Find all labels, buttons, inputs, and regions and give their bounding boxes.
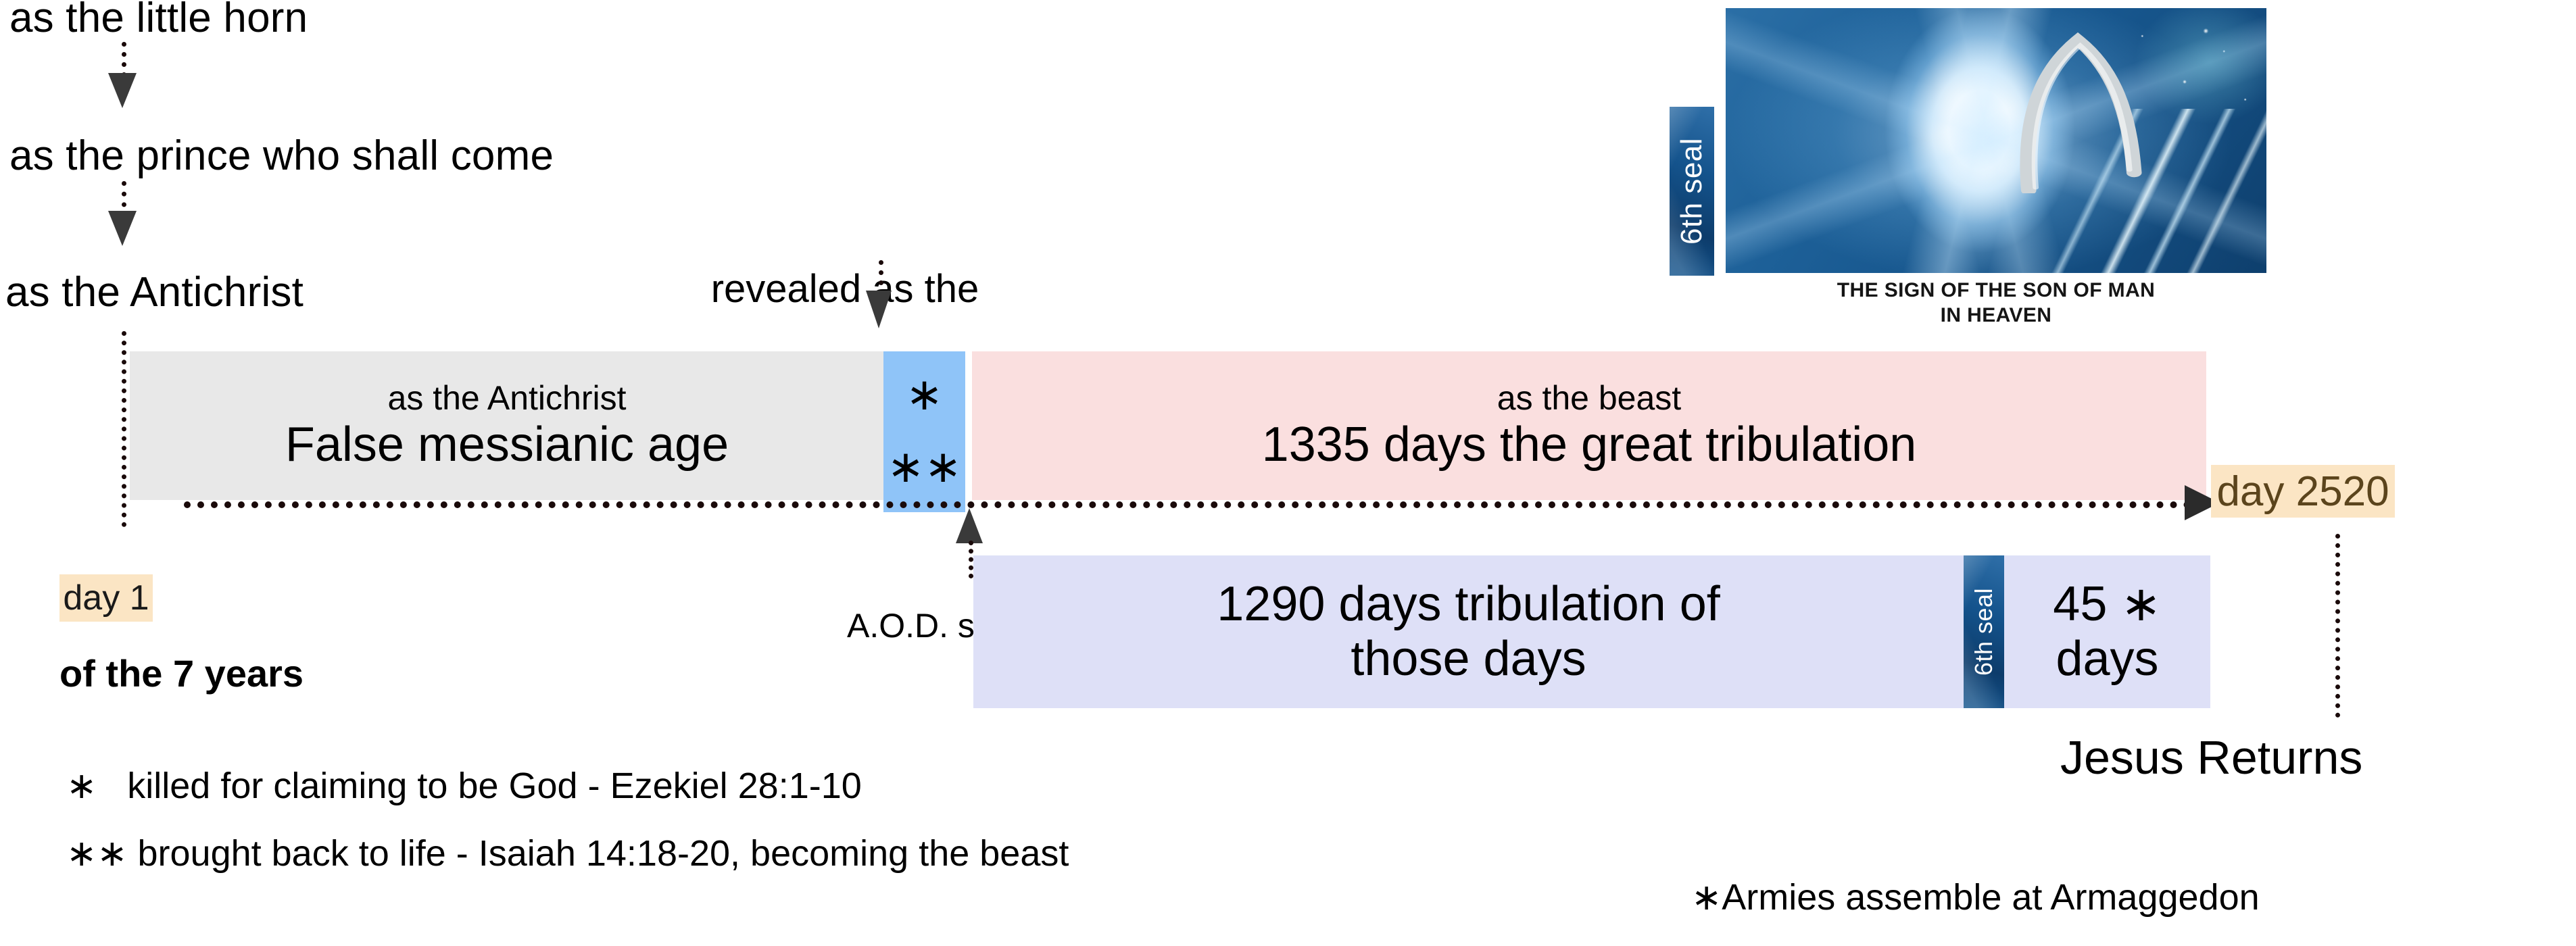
seal-tab-timeline-label: 6th seal xyxy=(1970,588,1998,676)
segment-1290-days-tribulation: 1290 days tribulation of those days xyxy=(973,555,1964,708)
image-arc-shape xyxy=(2012,29,2153,193)
chain-label-antichrist: as the Antichrist xyxy=(5,270,303,314)
image-caption-line-1: THE SIGN OF THE SON OF MAN xyxy=(1726,278,2266,303)
seal-tab-picture: 6th seal xyxy=(1670,107,1714,276)
marker-double-star: ∗∗ xyxy=(887,443,962,490)
chip-day-2520: day 2520 xyxy=(2211,465,2395,518)
segment-45-days-label-line-1: 45 ∗ xyxy=(2053,577,2161,632)
chip-day-1-label: day 1 xyxy=(63,578,149,618)
segment-great-tribulation-sublabel: as the beast xyxy=(1497,380,1681,416)
chip-day-2520-label: day 2520 xyxy=(2216,468,2389,516)
arrow-down-icon-1 xyxy=(108,73,137,108)
prophecy-timeline-diagram: as the little horn as the prince who sha… xyxy=(0,0,2576,946)
segment-45-days-label-line-2: days xyxy=(2056,632,2158,687)
sign-of-son-of-man-image xyxy=(1726,8,2266,273)
chain-connector-1 xyxy=(122,42,126,77)
segment-1290-days-label-line-2: those days xyxy=(1351,632,1586,687)
arrow-down-icon-revealed xyxy=(866,291,892,328)
segment-great-tribulation: as the beast 1335 days the great tribula… xyxy=(972,351,2206,500)
label-jesus-returns: Jesus Returns xyxy=(2060,733,2362,783)
callout-revealed-line-1: revealed as the xyxy=(666,268,1024,311)
day-1-marker-line xyxy=(122,331,126,527)
aod-connector-line xyxy=(969,541,973,578)
chain-label-prince-who-shall-come: as the prince who shall come xyxy=(9,134,554,178)
image-caption-line-2: IN HEAVEN xyxy=(1726,303,2266,328)
segment-great-tribulation-label: 1335 days the great tribulation xyxy=(1262,420,1917,471)
main-timeline-axis xyxy=(184,501,2205,508)
jesus-returns-marker-line xyxy=(2335,534,2340,718)
marker-single-star: ∗ xyxy=(906,371,943,418)
segment-false-messianic-age: as the Antichrist False messianic age xyxy=(130,351,884,500)
chain-label-little-horn: as the little horn xyxy=(9,0,308,40)
segment-death-and-resurrection-markers: ∗ ∗∗ xyxy=(883,351,965,512)
chip-day-1: day 1 xyxy=(59,574,153,622)
label-of-the-7-years: of the 7 years xyxy=(59,654,303,694)
footnote-armageddon: ∗Armies assemble at Armaggedon xyxy=(1691,878,2260,917)
footnote-single-star: ∗ killed for claiming to be God - Ezekie… xyxy=(66,767,862,805)
segment-false-messianic-age-sublabel: as the Antichrist xyxy=(388,380,627,416)
segment-false-messianic-age-label: False messianic age xyxy=(285,420,729,471)
arrow-up-icon-aod xyxy=(956,508,983,543)
image-caption: THE SIGN OF THE SON OF MAN IN HEAVEN xyxy=(1726,278,2266,328)
seal-tab-picture-label: 6th seal xyxy=(1675,138,1709,245)
footnote-double-star: ∗∗ brought back to life - Isaiah 14:18-2… xyxy=(66,835,1069,873)
segment-45-days: 45 ∗ days xyxy=(2004,555,2210,708)
seal-tab-timeline: 6th seal xyxy=(1964,555,2004,708)
arrow-down-icon-2 xyxy=(108,211,137,246)
segment-1290-days-label-line-1: 1290 days tribulation of xyxy=(1217,577,1720,632)
